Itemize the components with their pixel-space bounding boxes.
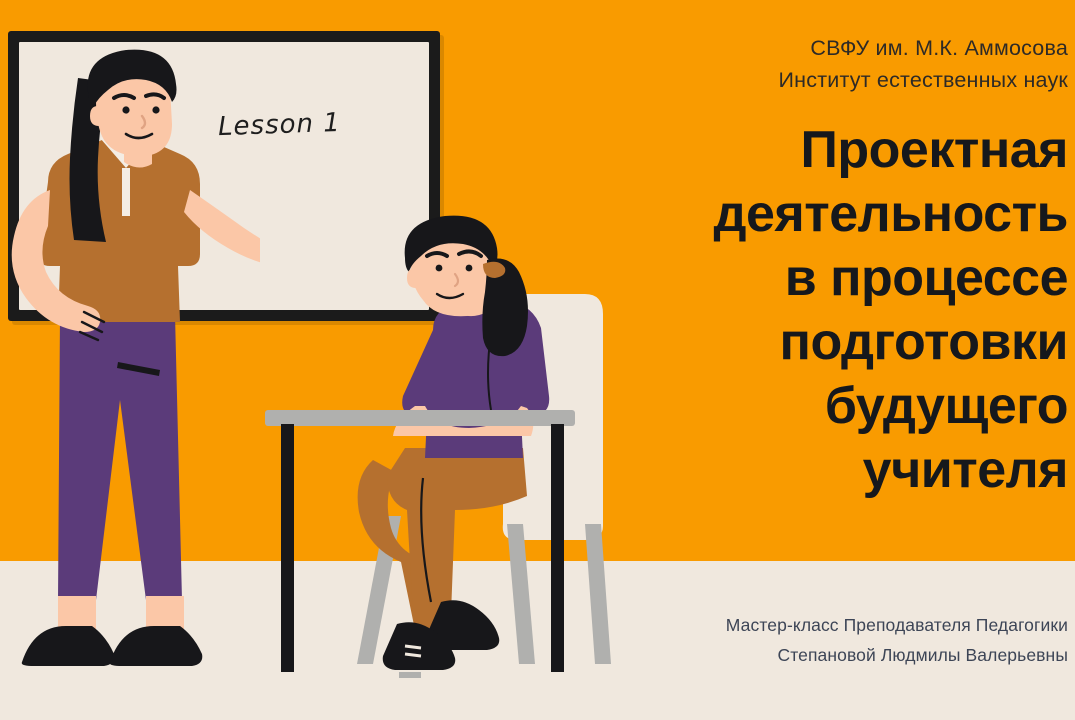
teacher-illustration xyxy=(0,40,260,680)
title-slide: Lesson 1 xyxy=(0,0,1075,720)
title-line-5: будущего xyxy=(608,374,1068,438)
title-line-6: учителя xyxy=(608,438,1068,502)
title-line-2: деятельность xyxy=(608,182,1068,246)
title-line-4: подготовки xyxy=(608,310,1068,374)
teacher-right-shoe xyxy=(110,626,203,666)
organization-line-1: СВФУ им. М.К. Аммосова xyxy=(628,32,1068,64)
student-eye-left xyxy=(436,265,443,272)
teacher-placket xyxy=(122,168,130,216)
title-line-1: Проектная xyxy=(608,118,1068,182)
teacher-pants xyxy=(58,315,182,600)
teacher-button-lower xyxy=(123,201,130,208)
floor-mark xyxy=(399,672,421,678)
student-eye-right xyxy=(466,265,473,272)
organization-block: СВФУ им. М.К. Аммосова Институт естестве… xyxy=(628,32,1068,96)
desk-leg-right xyxy=(551,424,564,672)
chair-leg-front xyxy=(507,524,535,664)
desk-top xyxy=(265,410,575,426)
presenter-line-2: Степановой Людмилы Валерьевны xyxy=(608,640,1068,670)
desk-leg-left xyxy=(281,424,294,672)
text-column: СВФУ им. М.К. Аммосова Институт естестве… xyxy=(600,0,1075,720)
student-scene-illustration xyxy=(255,210,655,680)
organization-line-2: Институт естественных наук xyxy=(628,64,1068,96)
teacher-button-upper xyxy=(123,183,130,190)
teacher-neck xyxy=(124,146,152,168)
presenter-block: Мастер-класс Преподавателя Педагогики Ст… xyxy=(608,610,1068,670)
title-line-3: в процессе xyxy=(608,246,1068,310)
teacher-eye-right xyxy=(152,106,159,113)
teacher-eye-left xyxy=(122,106,129,113)
page-title: Проектная деятельность в процессе подгот… xyxy=(608,118,1068,502)
presenter-line-1: Мастер-класс Преподавателя Педагогики xyxy=(608,610,1068,640)
teacher-left-shoe xyxy=(22,626,115,666)
